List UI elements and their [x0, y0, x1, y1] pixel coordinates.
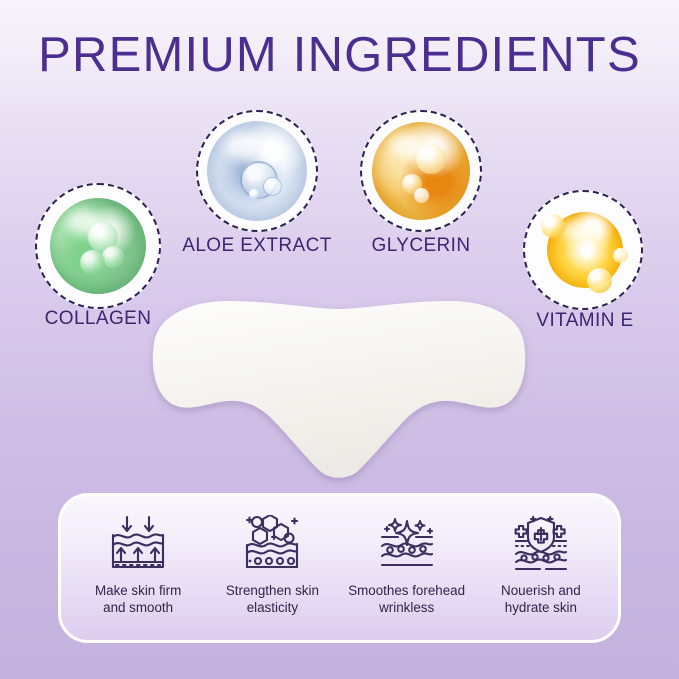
nourish-hydrate-shield-icon [510, 513, 572, 575]
page-title: PREMIUM INGREDIENTS [0, 30, 679, 81]
glycerin-dashed-circle [360, 110, 482, 232]
benefit-text-firm: Make skin firm and smooth [95, 583, 181, 617]
benefits-panel: Make skin firm and smooth [58, 493, 621, 643]
premium-ingredients-poster: PREMIUM INGREDIENTS COLLAGEN ALOE EXTRAC… [0, 0, 679, 679]
benefit-text-nourish: Nouerish and hydrate skin [501, 583, 581, 617]
skin-elasticity-molecules-icon [241, 513, 303, 575]
benefit-text-elasticity: Strengthen skin elasticity [226, 583, 319, 617]
benefit-item-smooth: Smoothes forehead wrinkless [342, 513, 472, 617]
skin-firming-arrows-icon [107, 513, 169, 575]
ingredient-glycerin [360, 110, 482, 232]
benefit-item-elasticity: Strengthen skin elasticity [207, 513, 337, 617]
benefit-item-firm: Make skin firm and smooth [73, 513, 203, 617]
aloe-water-droplet-icon [207, 121, 307, 221]
benefit-item-nourish: Nouerish and hydrate skin [476, 513, 606, 617]
smooth-wrinkles-sparkle-icon [376, 513, 438, 575]
benefit-text-smooth: Smoothes forehead wrinkless [348, 583, 465, 617]
aloe-dashed-circle [196, 110, 318, 232]
ingredient-label-glycerin: GLYCERIN [291, 235, 551, 257]
glycerin-oil-droplet-icon [372, 122, 470, 220]
forehead-patch-image [124, 288, 554, 488]
ingredient-aloe-extract [196, 110, 318, 232]
